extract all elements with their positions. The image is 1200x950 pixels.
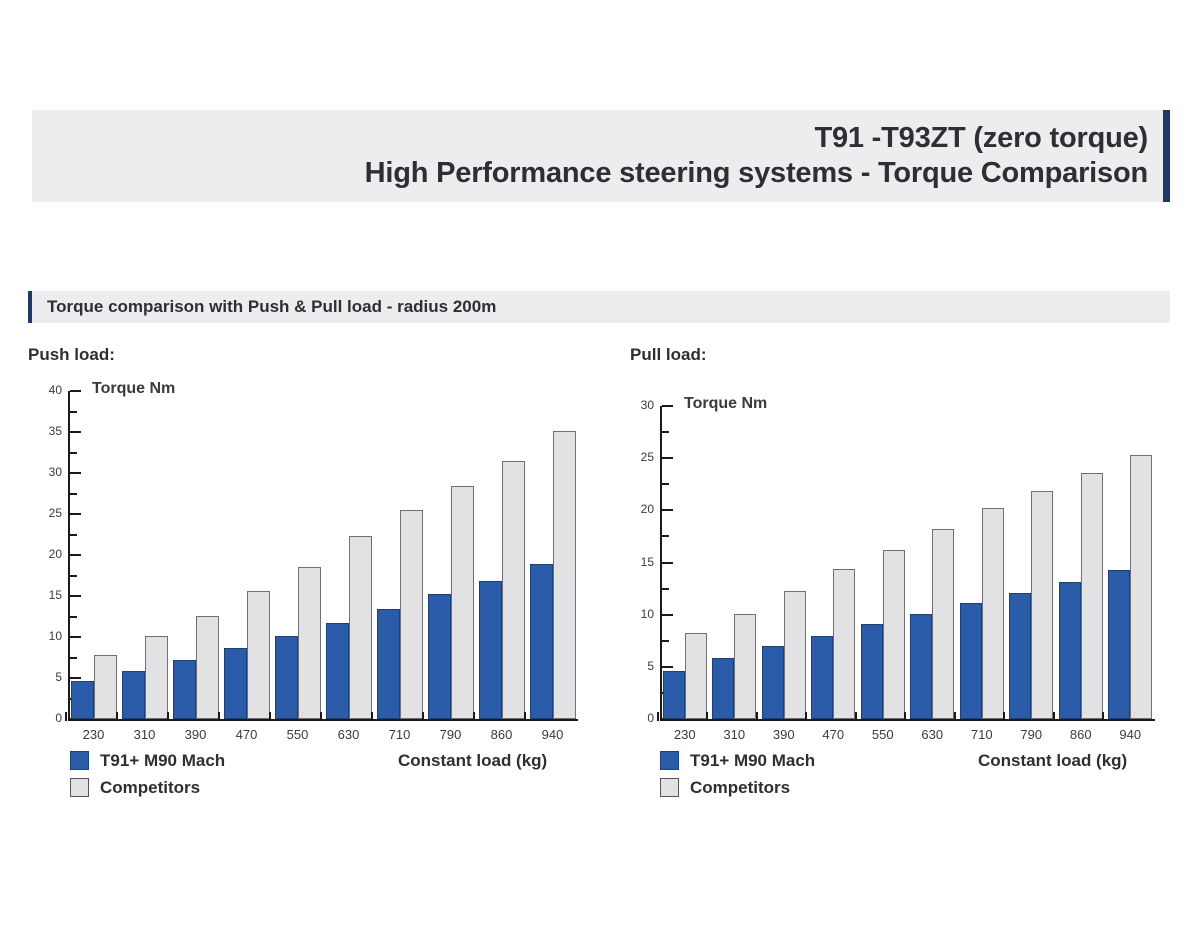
y-tick-minor [70,452,77,454]
x-tick-label: 710 [957,727,1007,742]
bar-mach [173,660,196,719]
x-tick-label: 940 [1105,727,1155,742]
x-tick-label: 470 [808,727,858,742]
slide-page: T91 -T93ZT (zero torque) High Performanc… [0,0,1200,950]
y-tick-label: 25 [626,450,654,464]
x-axis-title: Constant load (kg) [398,751,547,771]
bar-mach [326,623,349,719]
x-tick [116,712,118,721]
y-tick-minor [662,535,669,537]
slide-header: T91 -T93ZT (zero torque) High Performanc… [32,110,1170,202]
legend-item-mach[interactable]: T91+ M90 Mach [660,747,815,774]
y-tick-major [70,390,81,392]
y-tick-label: 25 [34,506,62,520]
y-tick-label: 5 [626,659,654,673]
x-tick-label: 940 [528,727,578,742]
bar-mach [377,609,400,719]
bar-mach [1108,570,1130,719]
y-tick-major [70,554,81,556]
y-tick-major [662,405,673,407]
x-tick-label: 470 [222,727,272,742]
bar-competitor [833,569,855,719]
legend-item-competitors[interactable]: Competitors [660,774,815,801]
legend-swatch-1 [660,778,679,797]
y-tick-label: 10 [626,607,654,621]
legend-label: T91+ M90 Mach [690,751,815,771]
y-tick-major [70,513,81,515]
x-tick-label: 550 [858,727,908,742]
page-title: T91 -T93ZT (zero torque) High Performanc… [365,121,1170,192]
bar-competitor [196,616,219,719]
y-tick-label: 15 [34,588,62,602]
bar-mach [861,624,883,719]
bar-competitor [734,614,756,719]
x-tick [954,712,956,721]
y-tick-major [662,666,673,668]
bar-competitor [349,536,372,719]
x-tick-label: 230 [660,727,710,742]
bar-competitor [145,636,168,719]
x-tick-label: 860 [1056,727,1106,742]
y-tick-label: 20 [34,547,62,561]
y-tick-label: 40 [34,383,62,397]
y-tick-minor [662,483,669,485]
bar-competitor [982,508,1004,719]
x-tick [473,712,475,721]
legend-swatch-0 [660,751,679,770]
y-tick-minor [662,640,669,642]
y-tick-major [70,472,81,474]
bar-competitor [685,633,707,719]
section-title: Torque comparison with Push & Pull load … [32,297,496,317]
x-tick [904,712,906,721]
x-tick-label: 390 [759,727,809,742]
x-tick [218,712,220,721]
y-tick-label: 10 [34,629,62,643]
bar-mach [811,636,833,719]
x-tick [65,712,67,721]
y-tick-label: 0 [34,711,62,725]
x-tick [706,712,708,721]
x-axis-title: Constant load (kg) [978,751,1127,771]
y-tick-minor [662,431,669,433]
chart-legend: T91+ M90 MachCompetitors [70,747,225,801]
y-tick-label: 15 [626,555,654,569]
bar-mach [762,646,784,719]
bar-mach [122,671,145,719]
x-tick-label: 790 [1006,727,1056,742]
bar-mach [71,681,94,719]
x-tick-label: 230 [69,727,119,742]
y-tick-label: 20 [626,502,654,516]
y-tick-label: 5 [34,670,62,684]
bar-competitor [1081,473,1103,719]
panel-pull-label: Pull load: [630,345,1190,365]
y-tick-label: 30 [34,465,62,479]
y-tick-minor [70,657,77,659]
bar-mach [1009,593,1031,719]
x-tick [855,712,857,721]
x-tick-label: 550 [273,727,323,742]
page-title-line-1: T91 -T93ZT (zero torque) [365,121,1148,156]
x-axis-line [68,719,578,721]
bar-competitor [451,486,474,719]
bar-mach [663,671,685,719]
x-tick-label: 790 [426,727,476,742]
panel-push-load: Push load: Torque Nm05101520253035402303… [28,345,618,776]
x-tick-label: 310 [709,727,759,742]
x-tick [1102,712,1104,721]
legend-label: Competitors [100,778,200,798]
y-tick-minor [70,411,77,413]
x-tick [1003,712,1005,721]
x-tick [371,712,373,721]
bar-mach [1059,582,1081,719]
y-tick-major [662,457,673,459]
y-tick-label: 0 [626,711,654,725]
legend-swatch-1 [70,778,89,797]
legend-label: Competitors [690,778,790,798]
legend-item-mach[interactable]: T91+ M90 Mach [70,747,225,774]
y-tick-minor [70,616,77,618]
x-tick [320,712,322,721]
panel-pull-load: Pull load: Torque Nm05101520253023031039… [630,345,1190,776]
y-tick-minor [70,534,77,536]
bar-competitor [502,461,525,719]
chart-legend: T91+ M90 MachCompetitors [660,747,815,801]
bar-competitor [247,591,270,719]
x-tick-label: 630 [324,727,374,742]
legend-item-competitors[interactable]: Competitors [70,774,225,801]
bar-mach [910,614,932,719]
bar-competitor [784,591,806,719]
panel-push-label: Push load: [28,345,618,365]
y-tick-minor [662,588,669,590]
x-tick-label: 860 [477,727,527,742]
x-tick [756,712,758,721]
bar-mach [275,636,298,719]
bar-competitor [553,431,576,719]
x-tick-label: 310 [120,727,170,742]
x-tick [1053,712,1055,721]
legend-swatch-0 [70,751,89,770]
y-tick-major [70,636,81,638]
x-tick-label: 710 [375,727,425,742]
y-tick-label: 35 [34,424,62,438]
y-tick-minor [70,493,77,495]
y-tick-major [662,562,673,564]
bar-competitor [883,550,905,719]
bar-competitor [94,655,117,719]
bar-competitor [1130,455,1152,719]
x-tick [524,712,526,721]
bar-mach [530,564,553,719]
bar-mach [960,603,982,719]
x-tick [805,712,807,721]
bar-mach [224,648,247,719]
bar-competitor [298,567,321,719]
y-tick-major [70,595,81,597]
legend-label: T91+ M90 Mach [100,751,225,771]
y-tick-minor [70,575,77,577]
chart-push-load: Torque Nm0510152025303540230310390470550… [28,381,588,776]
y-tick-major [662,509,673,511]
x-tick-label: 630 [907,727,957,742]
chart-pull-load: Torque Nm0510152025302303103904705506307… [630,381,1175,776]
bar-competitor [932,529,954,719]
page-title-line-2: High Performance steering systems - Torq… [365,156,1148,191]
y-tick-major [70,431,81,433]
bar-competitor [400,510,423,719]
x-tick [167,712,169,721]
bar-mach [479,581,502,719]
y-tick-label: 30 [626,398,654,412]
section-header: Torque comparison with Push & Pull load … [28,291,1170,323]
y-tick-major [70,677,81,679]
x-tick [657,712,659,721]
header-accent-stripe [1163,110,1170,202]
x-tick [422,712,424,721]
bar-mach [428,594,451,719]
bar-mach [712,658,734,719]
y-axis-title: Torque Nm [92,380,175,398]
x-tick-label: 390 [171,727,221,742]
bar-competitor [1031,491,1053,719]
y-tick-major [662,614,673,616]
x-axis-line [660,719,1155,721]
y-axis-title: Torque Nm [684,395,767,413]
x-tick [269,712,271,721]
